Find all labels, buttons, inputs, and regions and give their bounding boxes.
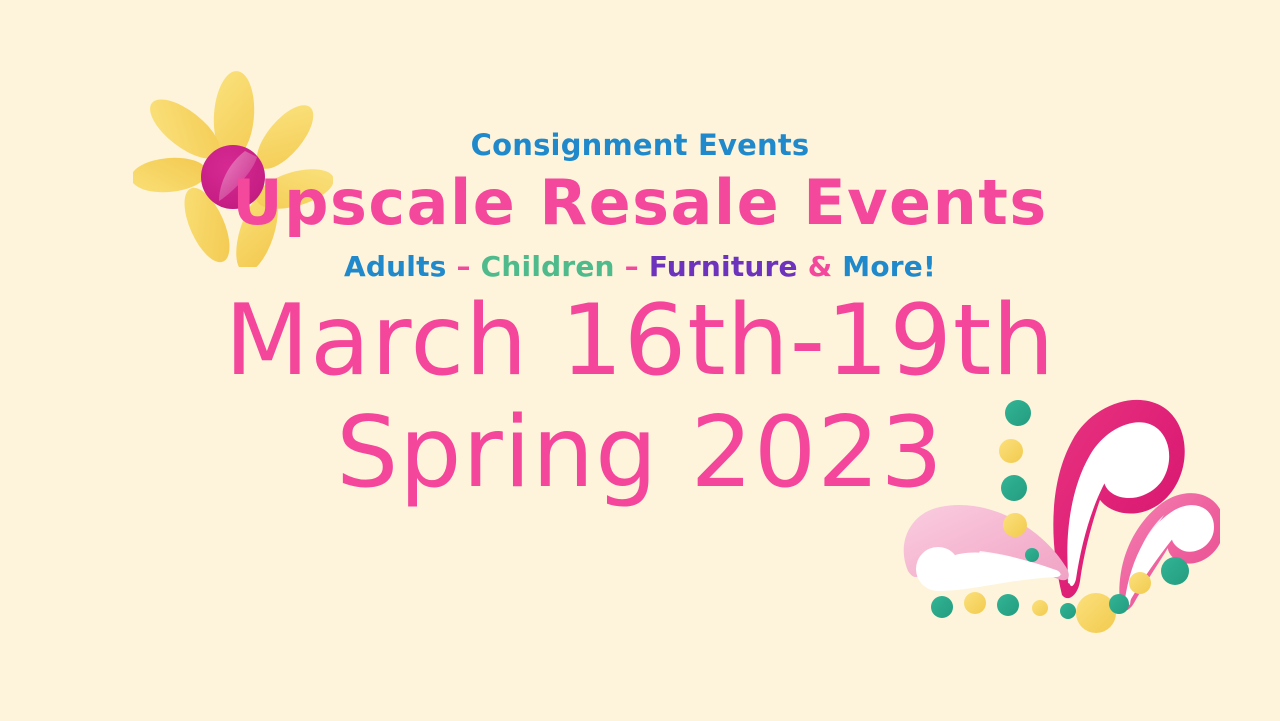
dot-yellow xyxy=(999,439,1023,463)
dot-teal xyxy=(931,596,953,618)
dot-teal xyxy=(1025,548,1039,562)
dot-teal xyxy=(1060,603,1076,619)
pink-paisley-flourish-icon xyxy=(890,355,1220,655)
dot-teal xyxy=(997,594,1019,616)
dot-teal xyxy=(1001,475,1027,501)
dot-yellow xyxy=(1003,513,1027,537)
flourish-swirl-light xyxy=(904,505,1069,591)
category-more: More! xyxy=(842,250,936,283)
category-furniture: Furniture xyxy=(649,250,798,283)
dot-yellow xyxy=(964,592,986,614)
dot-yellow xyxy=(1129,572,1151,594)
dot-teal xyxy=(1109,594,1129,614)
category-separator-1: – xyxy=(456,250,470,283)
dot-teal xyxy=(1161,557,1189,585)
category-ampersand: & xyxy=(808,250,833,283)
yellow-daisy-flower-icon xyxy=(133,67,333,267)
dot-yellow-large xyxy=(1076,593,1116,633)
dot-yellow xyxy=(1032,600,1048,616)
category-separator-2: – xyxy=(625,250,639,283)
poster-canvas: Consignment Events Upscale Resale Events… xyxy=(0,0,1280,721)
flower-center xyxy=(201,145,265,209)
category-children: Children xyxy=(481,250,615,283)
category-adults: Adults xyxy=(344,250,447,283)
dot-teal xyxy=(1005,400,1031,426)
